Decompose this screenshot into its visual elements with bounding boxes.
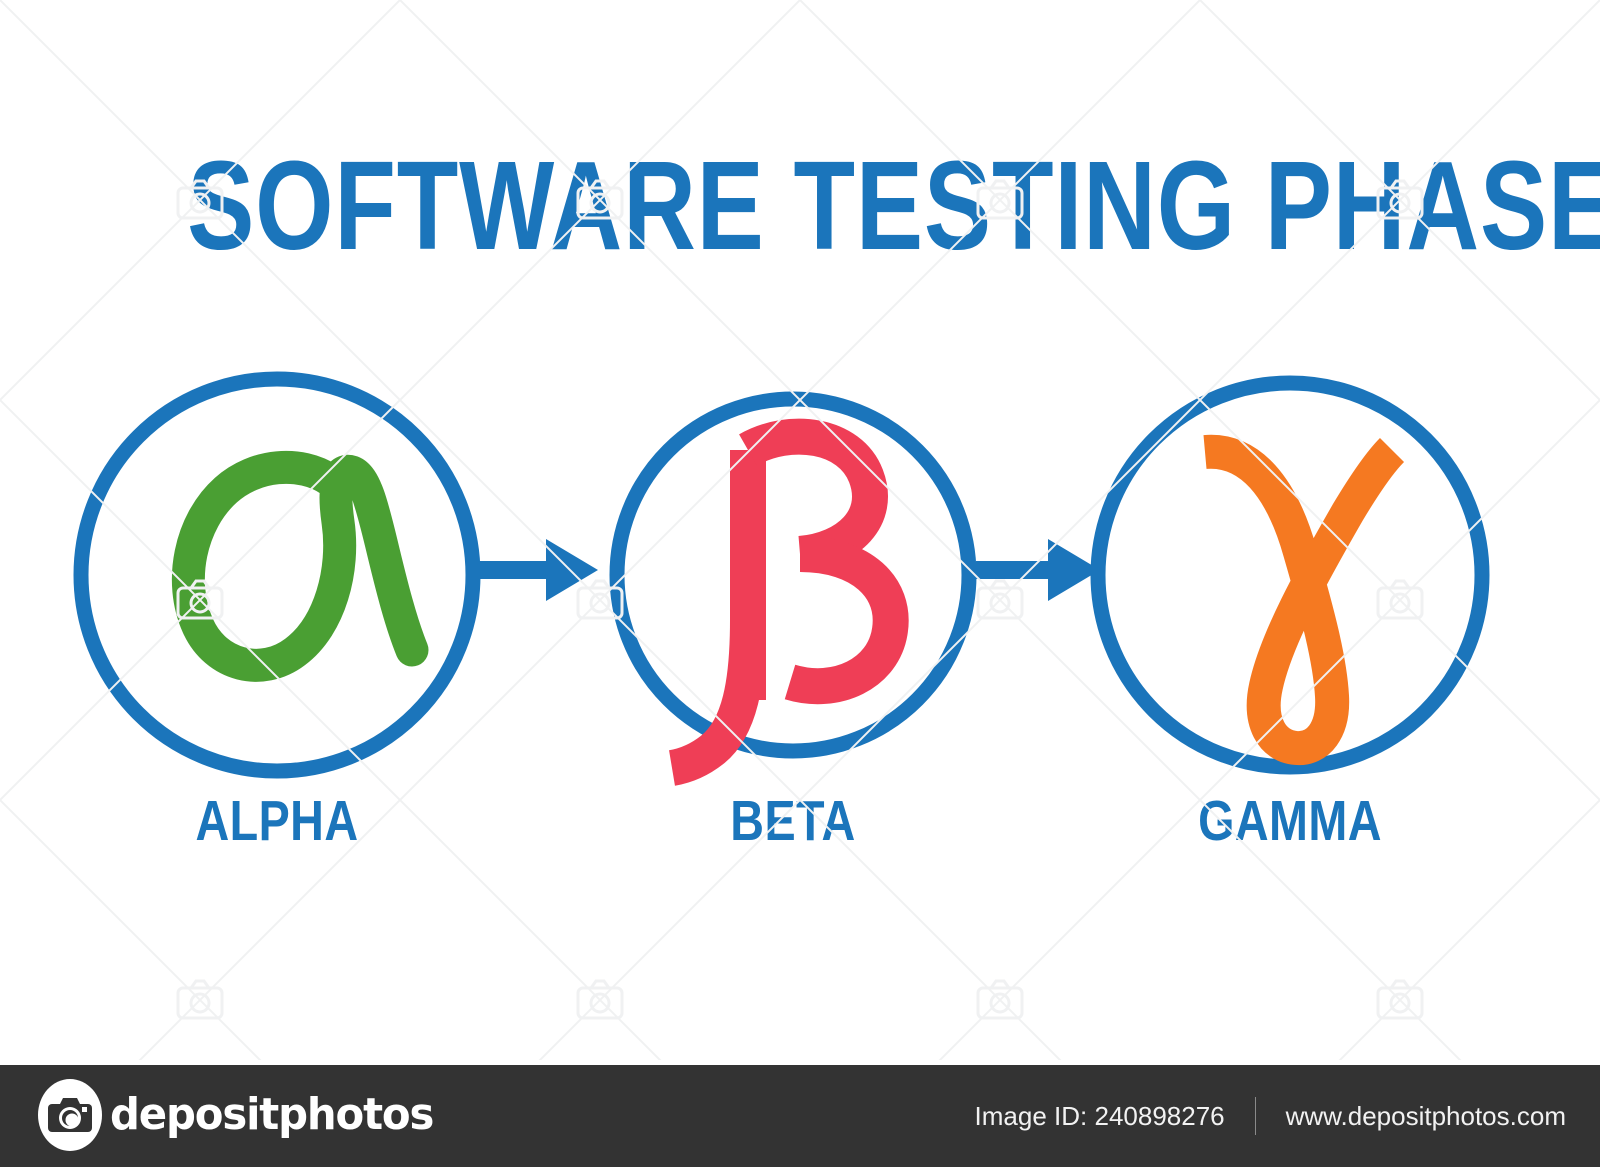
camera-icon — [36, 1078, 104, 1152]
footer-meta: Image ID: 240898276 www.depositphotos.co… — [975, 1065, 1566, 1167]
image-canvas: SOFTWARE TESTING PHASES ALPHA — [0, 0, 1600, 1167]
depositphotos-logo: depositphotos — [36, 1078, 450, 1152]
phase-label-beta: BETA — [730, 790, 855, 853]
phase-node-alpha[interactable]: ALPHA — [81, 379, 473, 853]
footer-divider — [1255, 1097, 1256, 1135]
phase-label-alpha: ALPHA — [195, 790, 358, 853]
phase-circle-alpha — [81, 379, 473, 771]
depositphotos-footer-bar: depositphotos Image ID: 240898276 www.de… — [0, 1065, 1600, 1167]
page-title: SOFTWARE TESTING PHASES — [187, 143, 1600, 269]
arrow-right-icon-1 — [474, 539, 598, 601]
image-id-label: Image ID: 240898276 — [975, 1101, 1225, 1132]
phase-node-gamma[interactable]: GAMMA — [1098, 383, 1482, 853]
website-link[interactable]: www.depositphotos.com — [1286, 1101, 1566, 1132]
phase-label-gamma: GAMMA — [1198, 790, 1382, 853]
phase-node-beta[interactable]: BETA — [617, 399, 969, 853]
software-testing-phases-diagram: ALPHA BETA — [0, 330, 1600, 890]
page-title-container: SOFTWARE TESTING PHASES — [0, 143, 1600, 269]
depositphotos-logo-text: depositphotos — [110, 1093, 433, 1137]
arrow-right-icon-2 — [976, 539, 1100, 601]
